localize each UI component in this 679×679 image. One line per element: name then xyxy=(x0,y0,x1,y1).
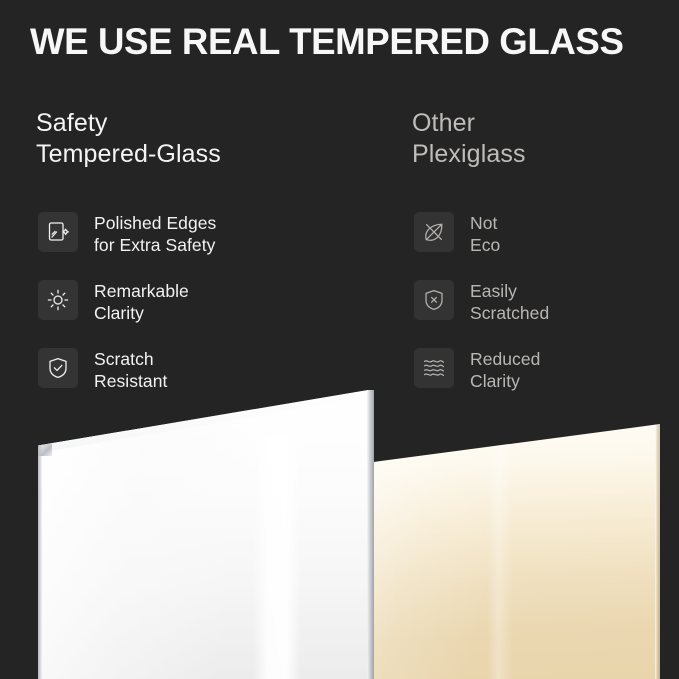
column-other-plexiglass: Other Plexiglass Not Eco xyxy=(412,108,674,170)
feature-item-polished-edges: Polished Edges for Extra Safety xyxy=(38,208,388,276)
product-panels-image xyxy=(0,390,679,679)
glass-right-edge xyxy=(367,390,374,679)
glass-top-bevel xyxy=(38,390,374,679)
feature-label-line1: Not xyxy=(470,213,497,233)
feature-label: Polished Edges for Extra Safety xyxy=(94,208,216,256)
feature-label-line2: Eco xyxy=(470,234,500,256)
column-heading-line1: Safety xyxy=(36,109,107,137)
feature-label: Reduced Clarity xyxy=(470,344,540,392)
feature-list: Not Eco Easily Scratched xyxy=(414,208,676,412)
feature-label-line1: Easily xyxy=(470,281,517,301)
shield-x-icon xyxy=(414,280,454,320)
glass-left-edge xyxy=(38,390,42,679)
feature-item-easily-scratched: Easily Scratched xyxy=(414,276,676,344)
feature-label: Scratch Resistant xyxy=(94,344,167,392)
leaf-crossed-out-icon xyxy=(414,212,454,252)
feature-label-line1: Reduced xyxy=(470,349,540,369)
column-heading-line2: Plexiglass xyxy=(412,139,674,170)
glass-polished-corner xyxy=(38,444,52,456)
feature-label-line1: Polished Edges xyxy=(94,213,216,233)
comparison-infographic: WE USE REAL TEMPERED GLASS Safety Temper… xyxy=(0,0,679,679)
feature-item-not-eco: Not Eco xyxy=(414,208,676,276)
feature-list: Polished Edges for Extra Safety Remarkab… xyxy=(38,208,388,412)
tempered-glass-panel xyxy=(38,390,374,679)
feature-label: Easily Scratched xyxy=(470,276,549,324)
feature-label-line1: Scratch xyxy=(94,349,154,369)
sun-brightness-icon xyxy=(38,280,78,320)
feature-label-line1: Remarkable xyxy=(94,281,189,301)
column-heading: Safety Tempered-Glass xyxy=(36,108,386,170)
column-heading: Other Plexiglass xyxy=(412,108,674,170)
polished-pane-sparkle-icon xyxy=(38,212,78,252)
feature-label-line2: Resistant xyxy=(94,370,167,392)
plexiglass-panel xyxy=(372,424,660,679)
feature-label: Not Eco xyxy=(470,208,500,256)
column-safety-tempered-glass: Safety Tempered-Glass Polished Edges for… xyxy=(36,108,386,170)
glass-sheen xyxy=(253,435,301,679)
feature-label-line2: Clarity xyxy=(470,370,540,392)
feature-label-line2: Clarity xyxy=(94,302,189,324)
feature-label-line2: for Extra Safety xyxy=(94,234,216,256)
shield-check-icon xyxy=(38,348,78,388)
feature-item-remarkable-clarity: Remarkable Clarity xyxy=(38,276,388,344)
plexiglass-sheen xyxy=(487,444,513,679)
feature-label: Remarkable Clarity xyxy=(94,276,189,324)
plexiglass-edge xyxy=(655,424,660,679)
feature-label-line2: Scratched xyxy=(470,302,549,324)
column-heading-line1: Other xyxy=(412,109,475,137)
page-title: WE USE REAL TEMPERED GLASS xyxy=(30,20,654,64)
column-heading-line2: Tempered-Glass xyxy=(36,139,386,170)
wavy-lines-icon xyxy=(414,348,454,388)
